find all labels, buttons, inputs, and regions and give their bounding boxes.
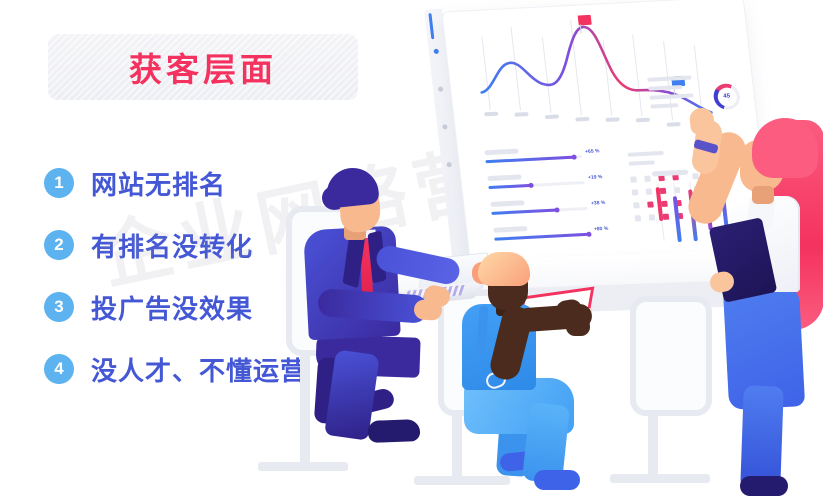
seated-shoe-front [534,470,580,490]
gauge-value: 45 [723,93,730,99]
seated-hair [478,252,530,286]
sidebar-dot-3[interactable] [442,124,448,129]
list-label-1: 网站无排名 [91,165,226,202]
progress-pct-3: +38 % [591,200,606,207]
list-badge-3: 3 [44,292,74,322]
list-label-4: 没人才、不懂运营 [91,351,307,388]
sidebar-dot-1[interactable] [433,49,439,54]
progress-pct-1: +65 % [585,148,600,155]
list-badge-1: 1 [44,168,74,198]
progress-pct-2: +19 % [588,174,603,181]
progress-row: +80 % [493,221,618,249]
list-badge-4: 4 [44,354,74,384]
seated-hand-cup [566,318,590,336]
progress-pct-4: +80 % [594,226,609,233]
presenter-hair-top [752,118,818,178]
presenter-shin [740,385,784,490]
progress-row: +38 % [490,196,615,224]
sidebar-accent-bar [428,13,434,39]
list-badge-2: 2 [44,230,74,260]
sidebar-dot-4[interactable] [446,162,452,167]
page-title: 获客层面 [129,43,277,91]
illustration-canvas: 获客层面 1 网站无排名 2 有排名没转化 3 投广告没效果 4 没人才、不懂运… [0,0,823,500]
presenter-shoe [740,476,788,496]
businessman-shoe-front [368,419,421,443]
list-label-3: 投广告没效果 [91,289,253,326]
peak-flag-icon [578,15,592,26]
progress-panel: +65 % +19 % +38 % +80 % [484,144,624,254]
progress-row: +65 % [484,144,609,172]
progress-row: +19 % [487,170,612,198]
sidebar-dot-2[interactable] [438,87,444,92]
list-label-2: 有排名没转化 [91,227,253,264]
presenter-neck [752,186,774,204]
gauge-donut: 45 [712,83,741,110]
title-banner: 获客层面 [48,34,358,100]
businessman-hand-lower [413,299,442,321]
